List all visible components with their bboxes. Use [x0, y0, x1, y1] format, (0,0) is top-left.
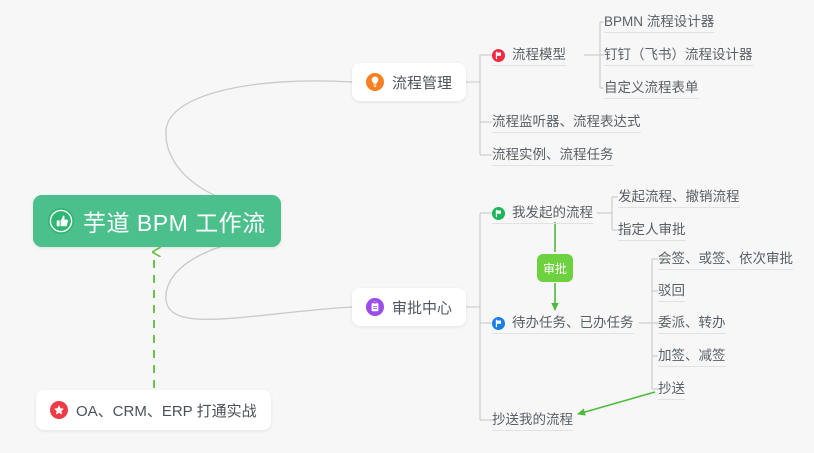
root-label: 芋道 BPM 工作流: [83, 204, 266, 238]
thumbs-up-icon: [48, 208, 74, 234]
node-process-listener-expression[interactable]: 流程监听器、流程表达式: [492, 107, 641, 133]
node-bpmn-designer[interactable]: BPMN 流程设计器: [604, 7, 714, 33]
node-dingtalk-feishu-designer[interactable]: 钉钉（飞书）流程设计器: [604, 40, 753, 66]
node-process-model[interactable]: 流程模型: [492, 40, 566, 66]
node-add-remove-sign[interactable]: 加签、减签: [658, 341, 726, 367]
node-custom-process-form[interactable]: 自定义流程表单: [604, 73, 699, 99]
node-process-listener-expression-label: 流程监听器、流程表达式: [492, 114, 641, 130]
node-start-cancel-process[interactable]: 发起流程、撤销流程: [618, 182, 740, 208]
footnote-label: OA、CRM、ERP 打通实战: [76, 400, 257, 421]
node-my-initiated-process[interactable]: 我发起的流程: [492, 198, 593, 224]
arrow-cc-to-ccmine: [578, 392, 655, 414]
node-todo-done-task[interactable]: 待办任务、已办任务: [492, 308, 634, 334]
branch-process-management[interactable]: 流程管理: [352, 63, 466, 101]
node-designated-approver[interactable]: 指定人审批: [618, 215, 686, 241]
node-custom-process-form-label: 自定义流程表单: [604, 80, 699, 96]
node-process-instance-task-label: 流程实例、流程任务: [492, 147, 614, 163]
node-my-initiated-process-label: 我发起的流程: [512, 205, 593, 221]
node-cc-label: 抄送: [658, 381, 685, 397]
star-icon: [50, 401, 68, 419]
node-designated-approver-label: 指定人审批: [618, 222, 686, 238]
root-node[interactable]: 芋道 BPM 工作流: [33, 195, 281, 247]
branch-approval-center[interactable]: 审批中心: [352, 288, 466, 326]
connector-root-to-approval-center: [166, 236, 352, 319]
node-cc[interactable]: 抄送: [658, 374, 685, 400]
approval-badge[interactable]: 审批: [537, 254, 573, 282]
flag-icon: [492, 317, 505, 330]
node-bpmn-designer-label: BPMN 流程设计器: [604, 14, 714, 30]
approval-badge-label: 审批: [543, 260, 567, 277]
branch-process-management-label: 流程管理: [392, 72, 452, 93]
connector-root-to-process-management: [166, 81, 352, 210]
node-reject-label: 驳回: [658, 283, 685, 299]
node-process-instance-task[interactable]: 流程实例、流程任务: [492, 140, 614, 166]
node-countersign-orsign-sequential-label: 会签、或签、依次审批: [658, 251, 793, 267]
node-cc-my-process[interactable]: 抄送我的流程: [492, 405, 573, 431]
clipboard-icon: [366, 298, 384, 316]
node-process-model-label: 流程模型: [512, 47, 566, 63]
node-delegate-transfer-label: 委派、转办: [658, 315, 726, 331]
flag-icon: [492, 207, 505, 220]
node-add-remove-sign-label: 加签、减签: [658, 348, 726, 364]
node-delegate-transfer[interactable]: 委派、转办: [658, 308, 726, 334]
node-countersign-orsign-sequential[interactable]: 会签、或签、依次审批: [658, 244, 793, 270]
node-cc-my-process-label: 抄送我的流程: [492, 412, 573, 428]
node-dingtalk-feishu-designer-label: 钉钉（飞书）流程设计器: [604, 47, 753, 63]
node-start-cancel-process-label: 发起流程、撤销流程: [618, 189, 740, 205]
footnote-card[interactable]: OA、CRM、ERP 打通实战: [36, 390, 271, 430]
mindmap-canvas: 芋道 BPM 工作流 流程管理 审批中心: [0, 0, 814, 453]
flag-icon: [492, 49, 505, 62]
node-todo-done-task-label: 待办任务、已办任务: [512, 315, 634, 331]
lightbulb-icon: [366, 73, 384, 91]
branch-approval-center-label: 审批中心: [392, 297, 452, 318]
node-reject[interactable]: 驳回: [658, 276, 685, 302]
